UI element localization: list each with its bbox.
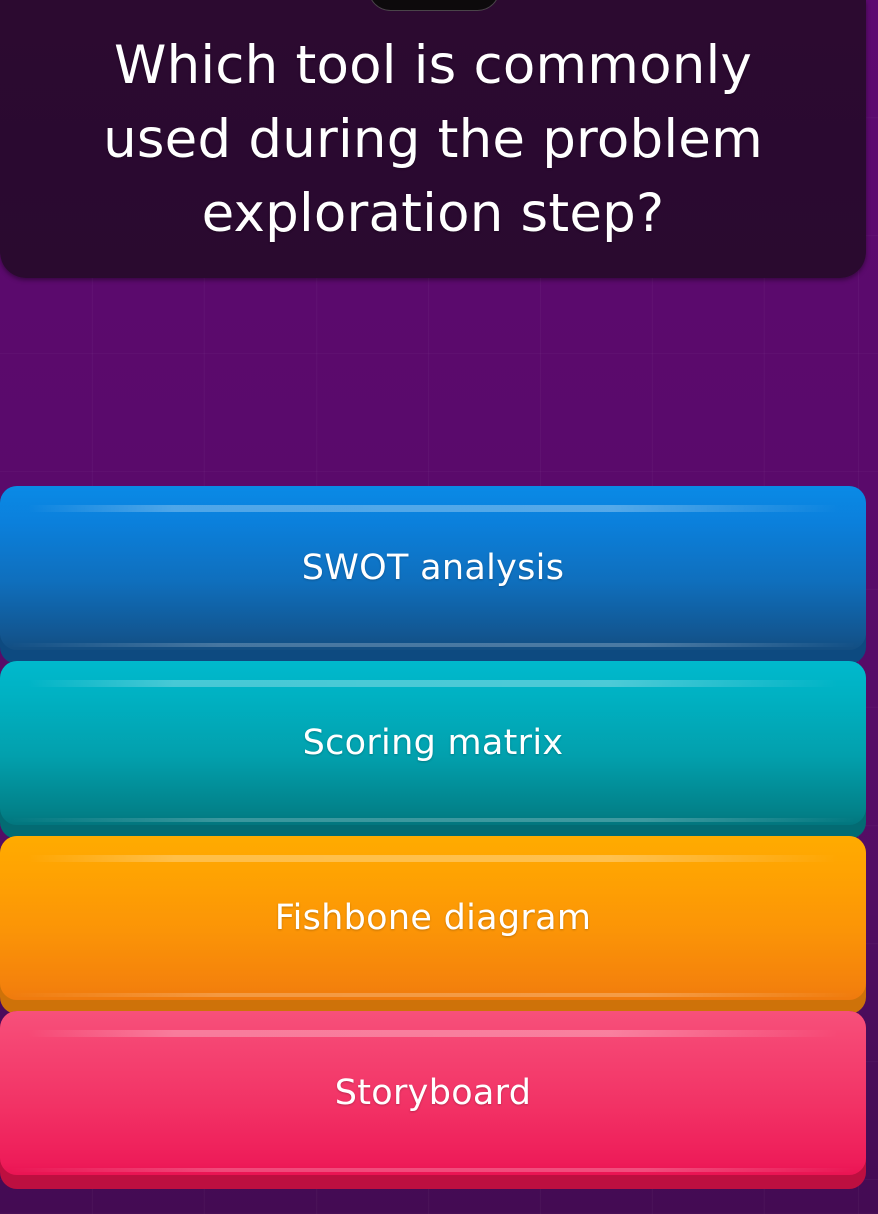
- gloss-highlight: [28, 855, 838, 862]
- answer-label: Scoring matrix: [303, 723, 564, 763]
- answer-label: SWOT analysis: [302, 548, 565, 588]
- gloss-highlight: [28, 1030, 838, 1037]
- quiz-screen: Which tool is commonly used during the p…: [0, 0, 878, 1214]
- bottom-highlight: [10, 993, 856, 997]
- question-text: Which tool is commonly used during the p…: [44, 29, 822, 252]
- answer-button-storyboard[interactable]: Storyboard: [0, 1011, 866, 1175]
- bottom-highlight: [10, 643, 856, 647]
- bottom-highlight: [10, 1168, 856, 1172]
- answer-options-list: SWOT analysis Scoring matrix Fishbone di…: [0, 486, 878, 1186]
- dynamic-island-notch: [368, 0, 500, 11]
- gloss-highlight: [28, 505, 838, 512]
- answer-button-scoring-matrix[interactable]: Scoring matrix: [0, 661, 866, 825]
- question-panel: Which tool is commonly used during the p…: [0, 0, 866, 278]
- answer-label: Fishbone diagram: [275, 898, 592, 938]
- gloss-highlight: [28, 680, 838, 687]
- answer-button-swot-analysis[interactable]: SWOT analysis: [0, 486, 866, 650]
- bottom-highlight: [10, 818, 856, 822]
- answer-label: Storyboard: [335, 1073, 532, 1113]
- answer-button-fishbone-diagram[interactable]: Fishbone diagram: [0, 836, 866, 1000]
